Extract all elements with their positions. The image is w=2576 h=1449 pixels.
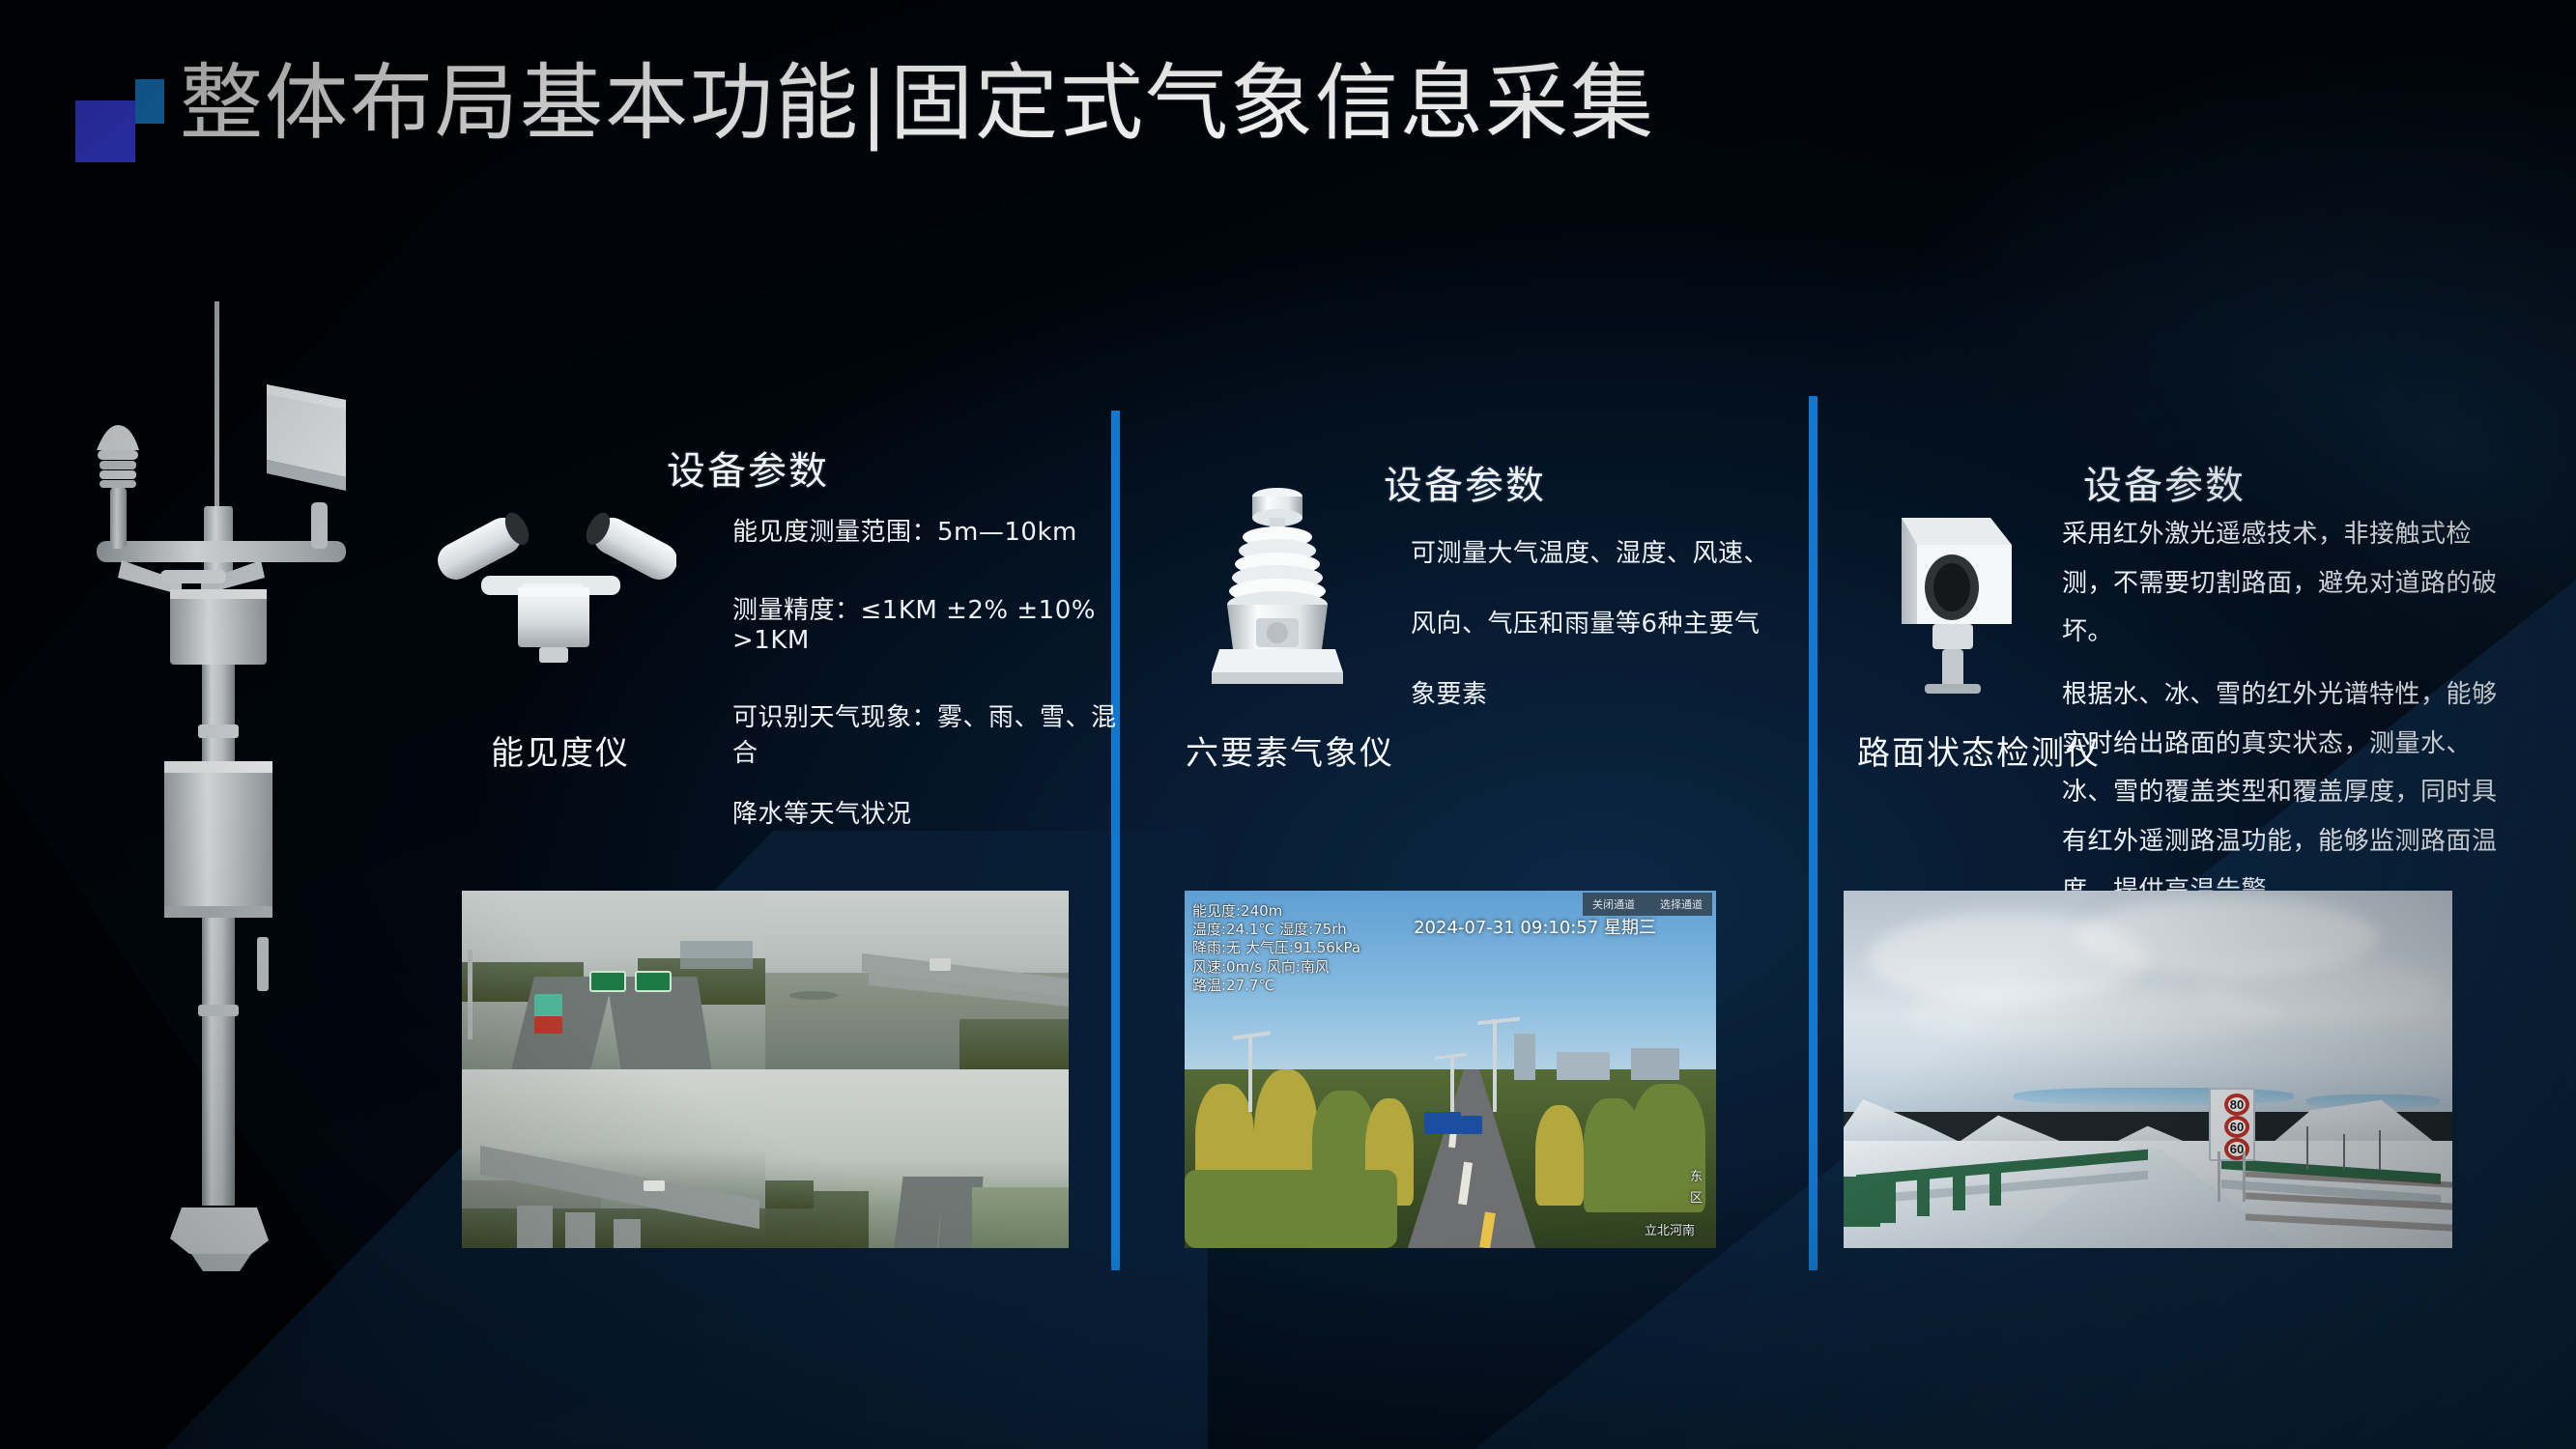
spec-line: 能见度测量范围：5m—10km	[732, 512, 1138, 548]
speed-limit-value: 60	[2224, 1138, 2249, 1160]
spec-paragraph: 采用红外激光遥感技术，非接触式检测，不需要切割路面，避免对道路的破坏。	[2062, 510, 2502, 657]
spec-line: 可识别天气现象：雾、雨、雪、混合	[732, 697, 1138, 769]
spec-line: 可测量大气温度、湿度、风速、	[1411, 533, 1797, 569]
speed-limit-value: 60	[2224, 1116, 2249, 1138]
page-title: 整体布局基本功能|固定式气象信息采集	[180, 62, 1655, 145]
column-divider-2	[1809, 396, 1818, 1270]
spec-line: 降水等天气状况	[732, 794, 1138, 830]
roadside-live-view-photo: 能见度:240m 温度:24.1℃ 湿度:75rh 降雨:无 大气压:91.56…	[1185, 891, 1716, 1248]
osd-select-channel-button[interactable]: 选择通道	[1660, 896, 1703, 912]
logo-squares-icon	[75, 79, 164, 162]
osd-close-channel-button[interactable]: 关闭通道	[1592, 896, 1635, 912]
fog-cctv-quad-photo	[462, 891, 1069, 1248]
params-heading-six-element: 设备参数	[1384, 454, 1789, 510]
device-caption-visibility: 能见度仪	[454, 726, 667, 774]
osd-corner-label-2: 区	[1690, 1191, 1703, 1207]
spec-paragraphs-road-surface: 采用红外激光遥感技术，非接触式检测，不需要切割路面，避免对道路的破坏。 根据水、…	[2062, 510, 2502, 916]
spec-line: 象要素	[1411, 674, 1797, 710]
road-surface-detector-icon	[1867, 502, 2050, 696]
slide-header: 整体布局基本功能|固定式气象信息采集	[75, 62, 1655, 162]
six-element-weather-sensor-icon	[1181, 473, 1374, 715]
params-heading-visibility: 设备参数	[667, 440, 1092, 496]
column-visibility: 设备参数	[667, 440, 1092, 496]
column-six-element: 设备参数	[1384, 454, 1789, 510]
osd-channel-buttons[interactable]: 关闭通道 选择通道	[1583, 893, 1712, 916]
spec-list-six-element: 可测量大气温度、湿度、风速、 风向、气压和雨量等6种主要气 象要素	[1411, 533, 1797, 710]
osd-measurements: 能见度:240m 温度:24.1℃ 湿度:75rh 降雨:无 大气压:91.56…	[1192, 902, 1360, 995]
snow-highway-photo: 80 60 60	[1844, 891, 2452, 1248]
osd-corner-label-1: 东	[1690, 1170, 1703, 1186]
column-road-surface: 设备参数	[2083, 454, 2489, 510]
device-caption-road-surface: 路面状态检测仪	[1815, 726, 2143, 774]
spec-list-visibility: 能见度测量范围：5m—10km 测量精度：≤1KM ±2% ±10% >1KM …	[732, 512, 1138, 830]
speed-limit-value: 80	[2224, 1094, 2249, 1116]
params-heading-road-surface: 设备参数	[2083, 454, 2489, 510]
device-caption-six-element: 六要素气象仪	[1145, 726, 1435, 774]
spec-line: 测量精度：≤1KM ±2% ±10% >1KM	[732, 590, 1138, 655]
speed-limit-sign: 80 60 60	[2209, 1088, 2255, 1161]
weather-station-mast-icon	[68, 270, 377, 1294]
visibility-sensor-icon	[425, 502, 676, 686]
osd-timestamp: 2024-07-31 09:10:57 星期三	[1414, 914, 1656, 939]
spec-paragraph: 根据水、冰、雪的红外光谱特性，能够实时给出路面的真实状态，测量水、冰、雪的覆盖类…	[2062, 670, 2502, 915]
spec-line: 风向、气压和雨量等6种主要气	[1411, 604, 1797, 639]
osd-bottom-label: 立北河南	[1645, 1224, 1695, 1240]
